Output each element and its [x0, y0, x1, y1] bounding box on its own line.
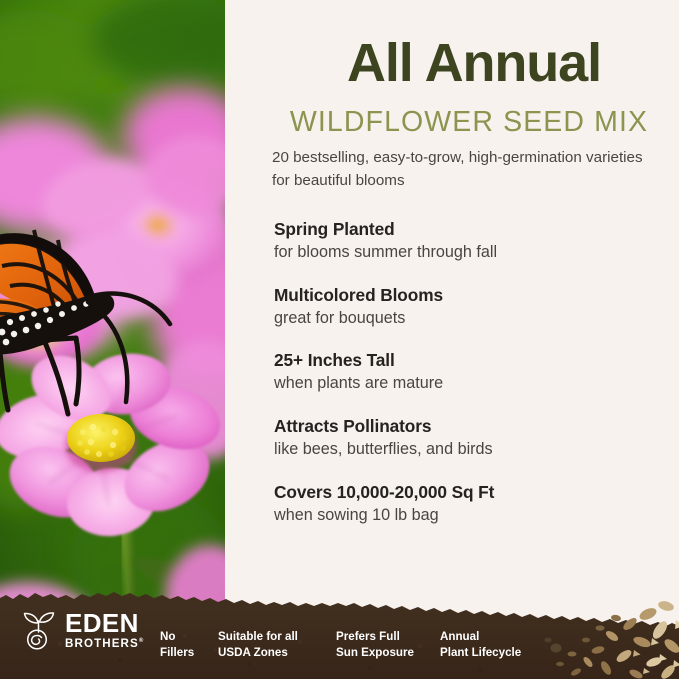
spec-line-1: Annual	[440, 629, 521, 645]
product-poster: All Annual WILDFLOWER SEED MIX 20 bestse…	[0, 0, 679, 679]
spec-line-1: Suitable for all	[218, 629, 298, 645]
feature-title: Multicolored Blooms	[274, 285, 664, 306]
content-panel: All Annual WILDFLOWER SEED MIX 20 bestse…	[225, 0, 679, 679]
feature-subtitle: when plants are mature	[274, 373, 664, 394]
product-subtitle: WILDFLOWER SEED MIX	[269, 106, 669, 139]
spec-line-1: Prefers Full	[336, 629, 414, 645]
seed-sprout-icon	[20, 610, 58, 650]
feature-item: Multicolored Blooms great for bouquets	[274, 285, 664, 329]
feature-subtitle: when sowing 10 lb bag	[274, 505, 664, 526]
brand-name: EDEN	[65, 610, 144, 636]
registered-trademark-icon: ®	[139, 638, 145, 644]
product-photo	[0, 0, 225, 679]
page-title: All Annual	[274, 36, 674, 90]
feature-title: Spring Planted	[274, 219, 664, 240]
spec-item-plant-lifecycle: Annual Plant Lifecycle	[440, 629, 521, 660]
brand-subname: BROTHERS®	[65, 638, 144, 650]
brand-logo[interactable]: EDEN BROTHERS®	[20, 610, 144, 650]
product-description: 20 bestselling, easy-to-grow, high-germi…	[272, 146, 662, 192]
feature-title: Covers 10,000-20,000 Sq Ft	[274, 482, 664, 503]
feature-subtitle: like bees, butterflies, and birds	[274, 439, 664, 460]
spec-line-2: Plant Lifecycle	[440, 645, 521, 661]
spec-line-1: No	[160, 629, 194, 645]
feature-title: Attracts Pollinators	[274, 416, 664, 437]
feature-item: 25+ Inches Tall when plants are mature	[274, 350, 664, 394]
feature-title: 25+ Inches Tall	[274, 350, 664, 371]
brand-subname-text: BROTHERS	[65, 637, 139, 650]
spec-item-sun-exposure: Prefers Full Sun Exposure	[336, 629, 414, 660]
feature-list: Spring Planted for blooms summer through…	[274, 219, 664, 547]
spec-item-no-fillers: No Fillers	[160, 629, 194, 660]
feature-subtitle: for blooms summer through fall	[274, 242, 664, 263]
feature-item: Covers 10,000-20,000 Sq Ft when sowing 1…	[274, 482, 664, 526]
brand-wordmark: EDEN BROTHERS®	[65, 610, 144, 650]
feature-item: Attracts Pollinators like bees, butterfl…	[274, 416, 664, 460]
spec-item-usda-zones: Suitable for all USDA Zones	[218, 629, 298, 660]
butterfly-on-flower-image	[0, 0, 225, 679]
feature-item: Spring Planted for blooms summer through…	[274, 219, 664, 263]
feature-subtitle: great for bouquets	[274, 308, 664, 329]
spec-line-2: Fillers	[160, 645, 194, 661]
spec-line-2: USDA Zones	[218, 645, 298, 661]
spec-line-2: Sun Exposure	[336, 645, 414, 661]
